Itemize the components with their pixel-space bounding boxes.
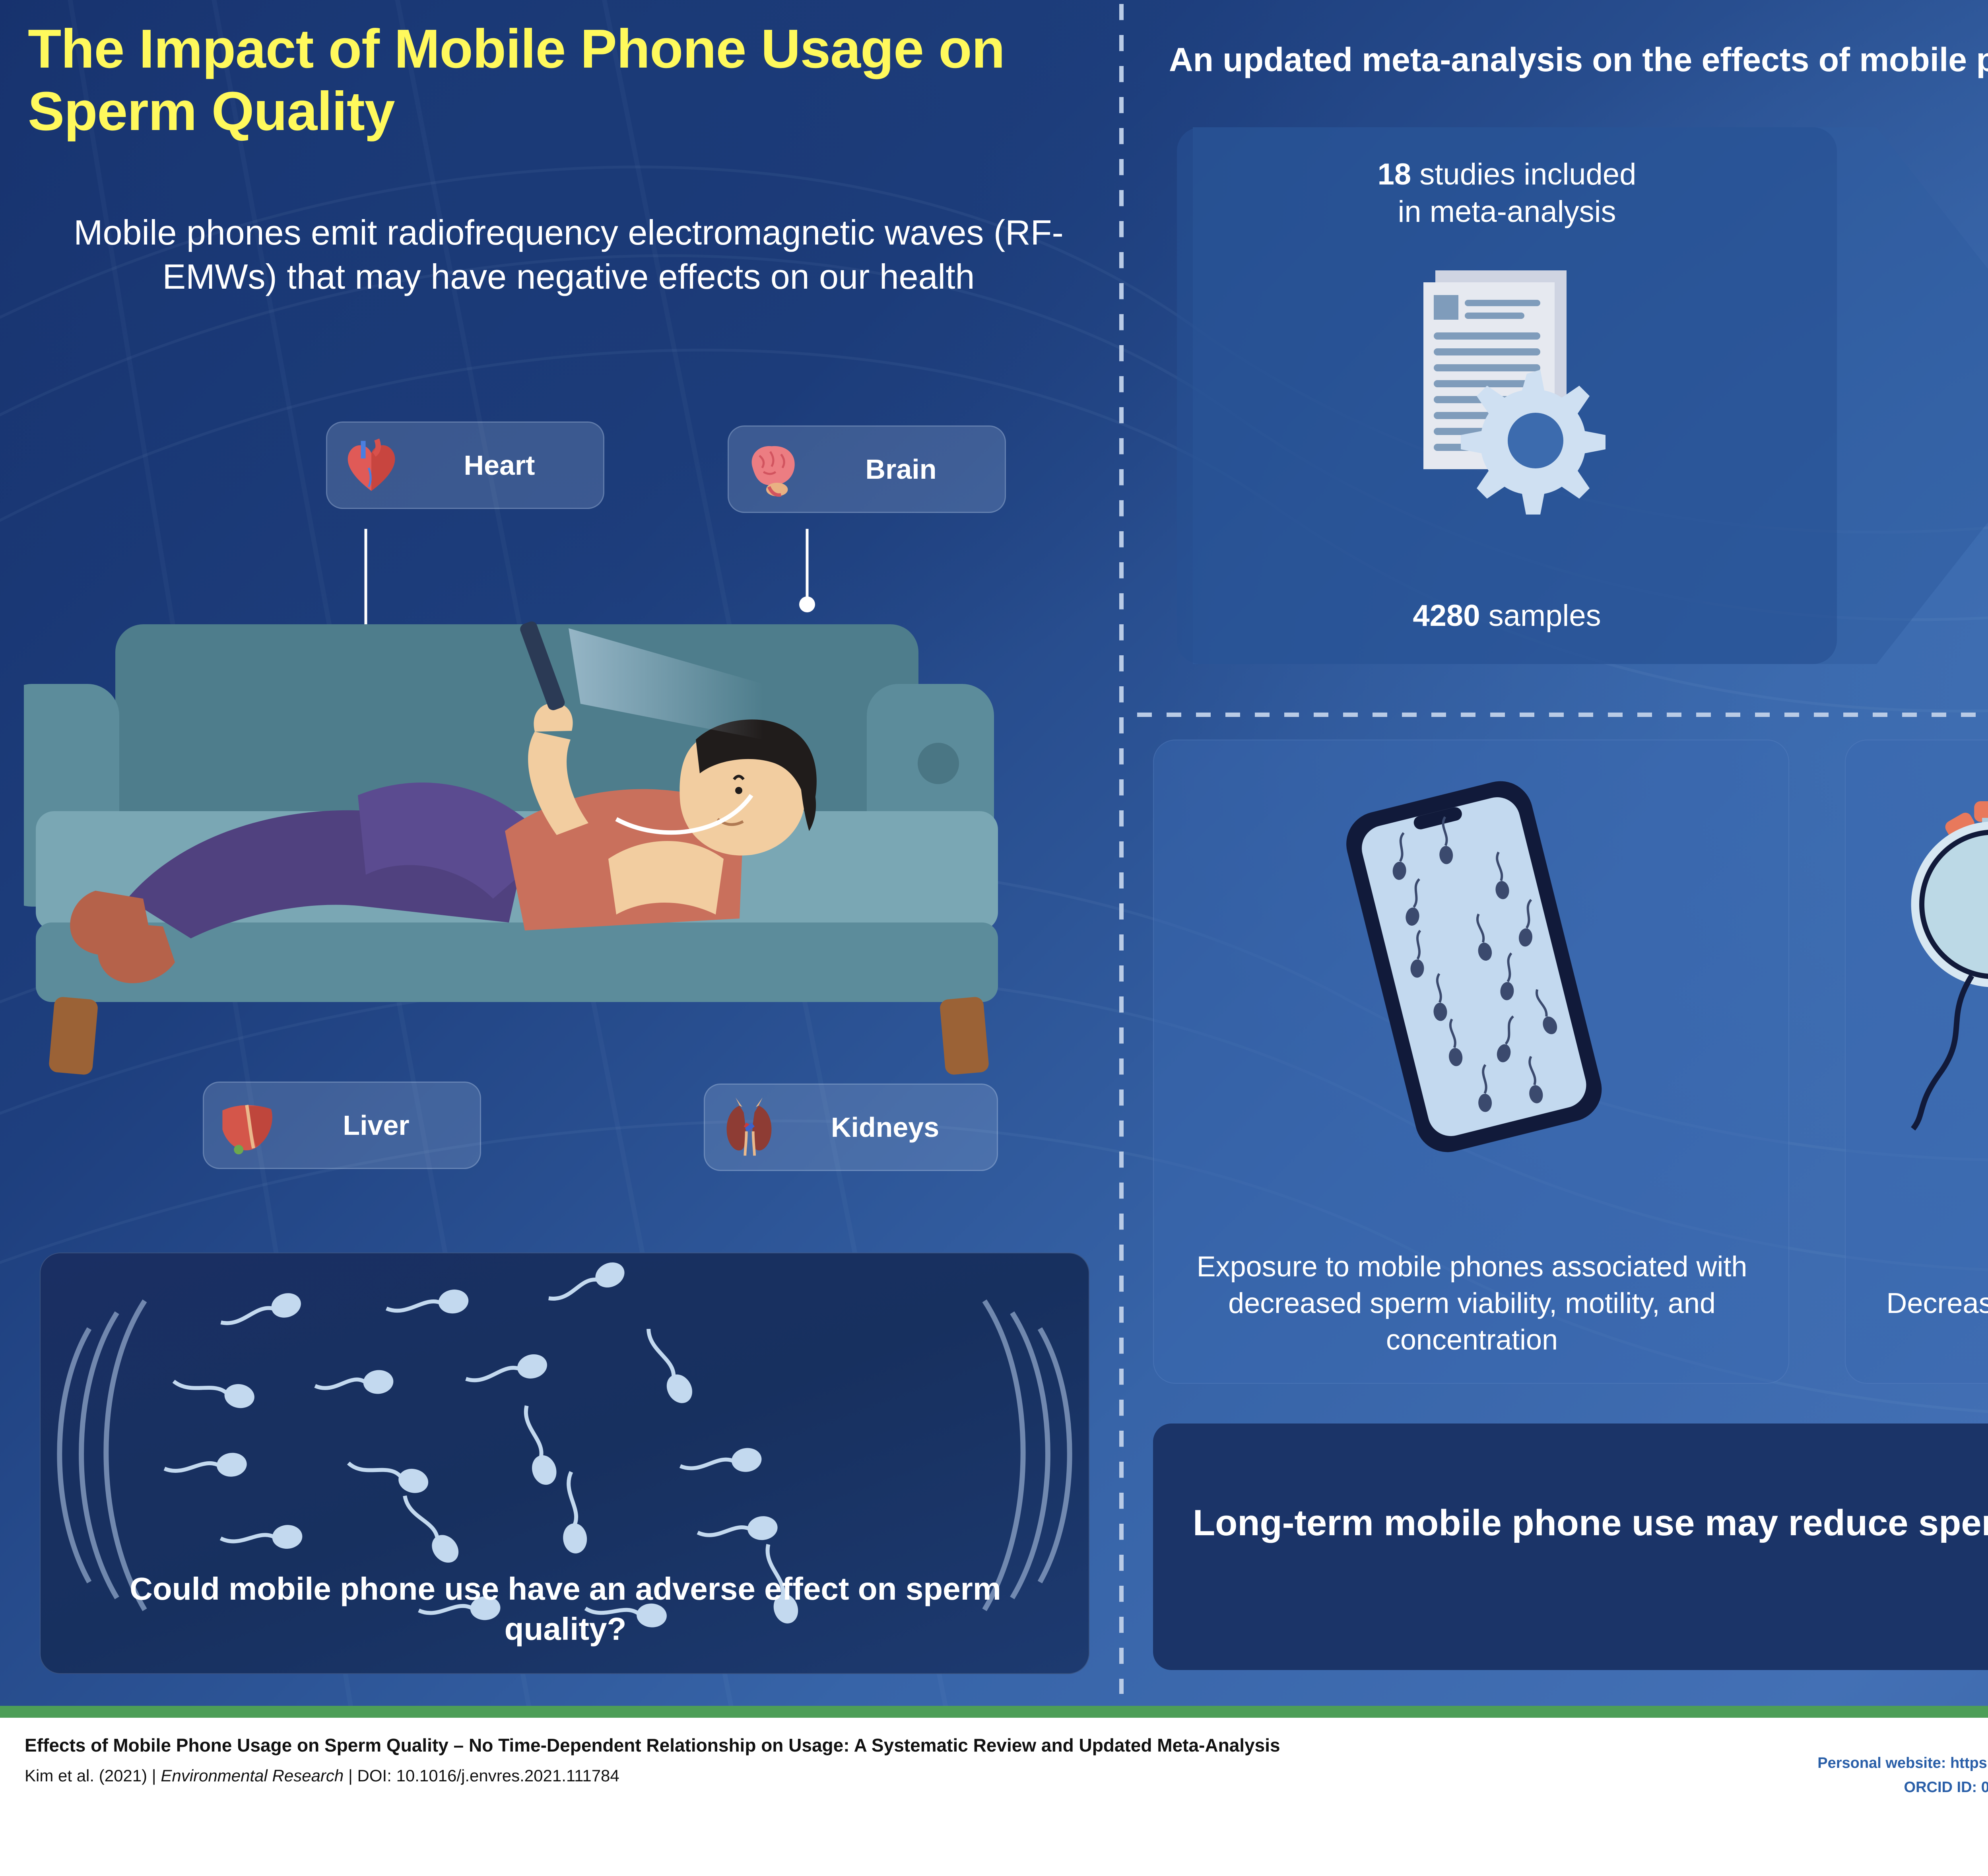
poster-canvas: The Impact of Mobile Phone Usage on Sper…: [0, 0, 1988, 1706]
kidneys-icon: [715, 1093, 783, 1161]
organ-chip-heart[interactable]: Heart: [326, 421, 604, 509]
paper-authors: Kim et al. (2021): [25, 1766, 147, 1785]
finding-caption: Decrease in sperm quality NOT significan…: [1870, 1285, 1988, 1358]
organ-chip-brain[interactable]: Brain: [728, 425, 1006, 513]
organ-label: Liver: [282, 1109, 480, 1141]
samples-count-text: 4280 samples: [1413, 598, 1601, 633]
studies-count-value: 18: [1378, 157, 1411, 191]
vertical-divider: [1119, 4, 1124, 1694]
page-title: The Impact of Mobile Phone Usage on Sper…: [28, 18, 1101, 143]
brain-icon: [739, 435, 807, 503]
samples-count-value: 4280: [1413, 599, 1480, 633]
paper-journal: Environmental Research: [161, 1766, 344, 1785]
document-gear-icon: [1356, 258, 1658, 537]
studies-count-text: 18 studies included in meta-analysis: [1378, 156, 1637, 231]
conclusion-text: Long-term mobile phone use may reduce sp…: [1153, 1500, 1988, 1594]
organ-chip-liver[interactable]: Liver: [203, 1082, 481, 1169]
finding-caption: Exposure to mobile phones associated wit…: [1178, 1249, 1766, 1358]
question-text: Could mobile phone use have an adverse e…: [64, 1569, 1066, 1649]
studies-count-line2: in meta-analysis: [1398, 195, 1616, 229]
question-panel: Could mobile phone use have an adverse e…: [40, 1253, 1089, 1674]
orcid-id[interactable]: ORCID ID: 00000-0002-9796-8266: [1582, 1775, 1988, 1800]
stopwatch-equals-icon: [1846, 756, 1988, 1154]
paper-doi: DOI: 10.1016/j.envres.2021.111784: [357, 1766, 619, 1785]
heart-icon: [338, 431, 405, 499]
footer: Effects of Mobile Phone Usage on Sperm Q…: [0, 1718, 1988, 1876]
studies-count-suffix: studies included: [1411, 157, 1636, 191]
horizontal-divider: [1137, 713, 1988, 717]
personal-website-link[interactable]: Personal website: https://dmodo.pusan.ac…: [1582, 1751, 1988, 1775]
organ-label: Kidneys: [783, 1111, 997, 1143]
author-links: Personal website: https://dmodo.pusan.ac…: [1582, 1751, 1988, 1800]
meta-sep-1: |: [147, 1766, 161, 1785]
organ-chip-kidneys[interactable]: Kidneys: [704, 1084, 998, 1171]
organ-label: Heart: [405, 449, 603, 481]
liver-icon: [214, 1091, 282, 1159]
citation-block: Effects of Mobile Phone Usage on Sperm Q…: [25, 1734, 1297, 1785]
samples-count-suffix: samples: [1480, 599, 1601, 633]
paper-title: Effects of Mobile Phone Usage on Sperm Q…: [25, 1734, 1297, 1758]
meta-sep-2: |: [344, 1766, 357, 1785]
paper-meta: Kim et al. (2021) | Environmental Resear…: [25, 1766, 1297, 1785]
phone-sperm-icon: [1154, 756, 1788, 1154]
infographic-poster: The Impact of Mobile Phone Usage on Sper…: [0, 0, 1988, 1876]
page-subtitle: Mobile phones emit radiofrequency electr…: [68, 211, 1070, 299]
finding-card-2: Decrease in sperm quality NOT significan…: [1845, 740, 1988, 1384]
meta-analysis-card: 18 studies included in meta-analysis: [1177, 127, 1837, 664]
green-accent-bar: [0, 1706, 1988, 1718]
conclusion-banner: Long-term mobile phone use may reduce sp…: [1153, 1424, 1988, 1670]
finding-card-1: Exposure to mobile phones associated wit…: [1153, 740, 1789, 1384]
section-header: An updated meta-analysis on the effects …: [1169, 40, 1988, 80]
organ-label: Brain: [807, 453, 1005, 485]
